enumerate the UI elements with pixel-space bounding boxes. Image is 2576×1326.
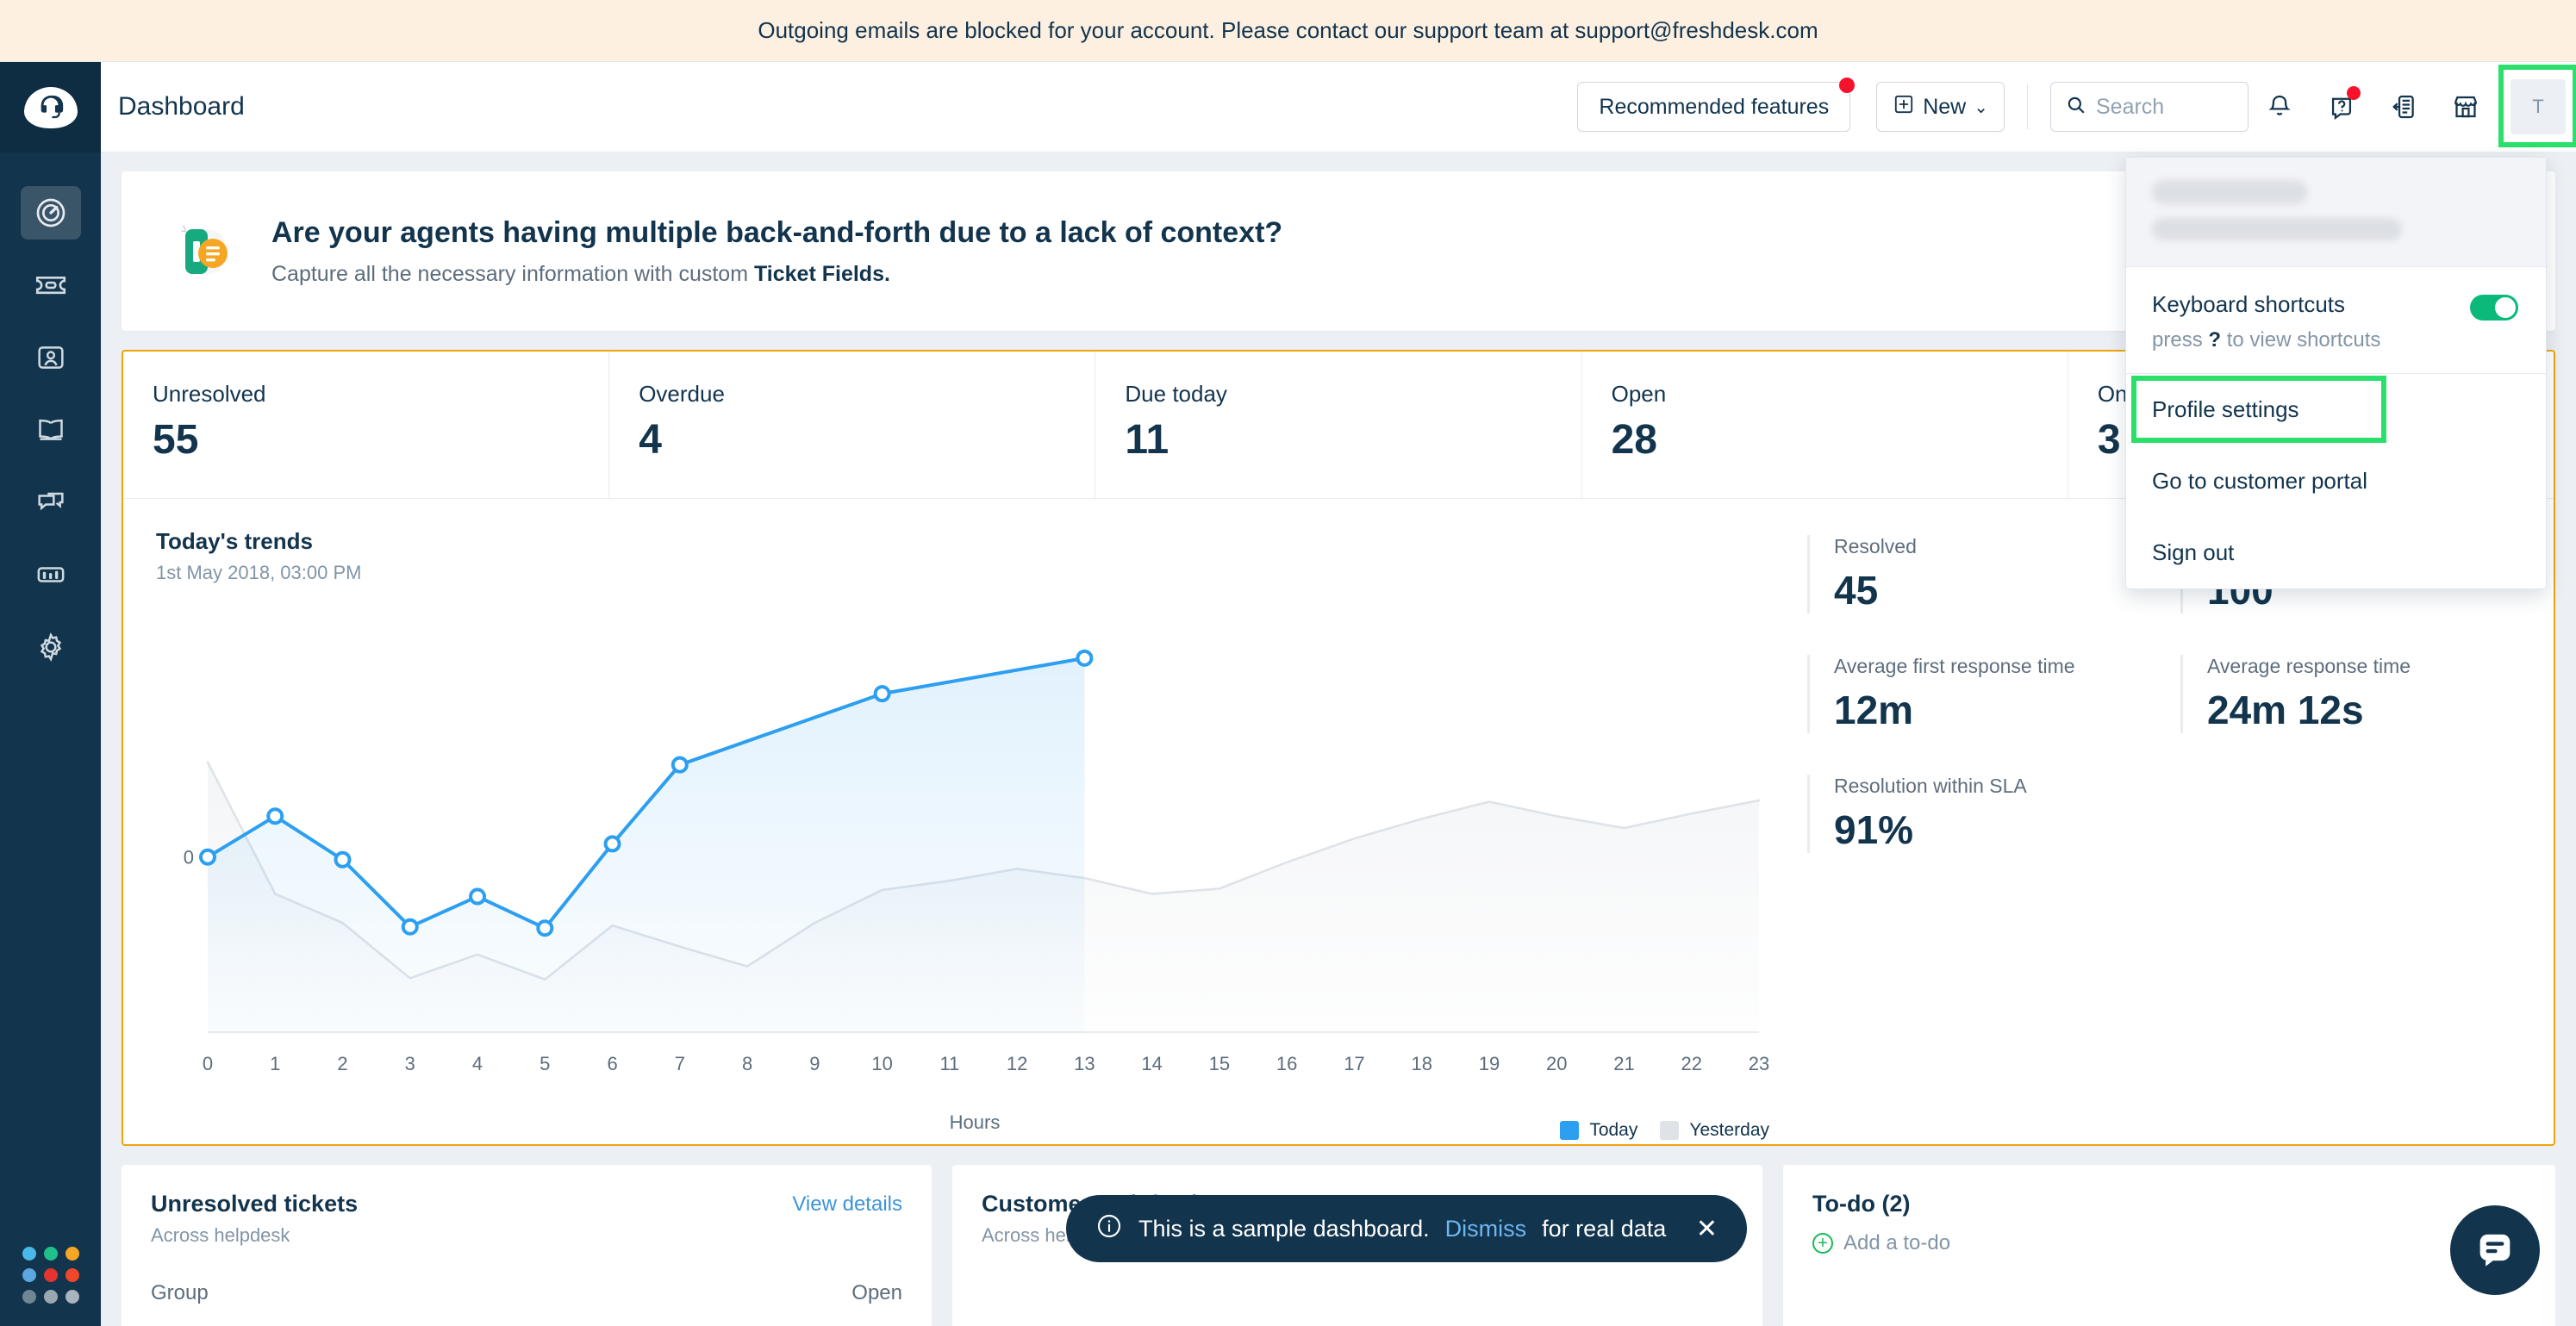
app-switcher[interactable] (0, 1247, 101, 1304)
svg-text:23: 23 (1749, 1053, 1769, 1074)
plus-square-icon (1893, 93, 1915, 121)
view-details-link[interactable]: View details (792, 1192, 902, 1217)
trends-chart-section: Today's trends 1st May 2018, 03:00 PM 00… (123, 499, 1778, 1144)
svg-text:16: 16 (1276, 1053, 1297, 1074)
ticket-fields-illustration-icon (163, 212, 242, 291)
promo-sub-bold: Ticket Fields. (754, 262, 890, 286)
sidebar-logo[interactable] (0, 62, 101, 153)
recommended-features-label: Recommended features (1599, 95, 1829, 120)
profile-avatar-wrapper: T (2511, 79, 2566, 134)
reports-bar-icon (21, 548, 81, 601)
profile-name-redacted (2152, 180, 2307, 204)
search-input[interactable]: Search (2050, 82, 2249, 132)
kpi-label: Overdue (639, 381, 1095, 408)
svg-text:14: 14 (1141, 1053, 1162, 1074)
svg-text:22: 22 (1681, 1053, 1701, 1074)
header-actions: Recommended features New ⌄ (1577, 62, 2576, 152)
help-icon[interactable] (2311, 76, 2373, 138)
menu-item-customer-portal[interactable]: Go to customer portal (2126, 445, 2546, 517)
svg-text:6: 6 (607, 1053, 617, 1074)
hint-suffix: to view shortcuts (2221, 328, 2380, 352)
app-dot-5 (44, 1268, 58, 1282)
legend-swatch-yesterday (1660, 1121, 1679, 1140)
todo-card: To-do (2) + Add a to-do (1783, 1165, 2555, 1326)
hint-prefix: press (2152, 328, 2208, 352)
add-todo-button[interactable]: + Add a to-do (1812, 1231, 2526, 1255)
svg-text:1: 1 (270, 1053, 280, 1074)
hint-key: ? (2208, 328, 2221, 352)
trends-chart-svg: 001234567891011121314151617181920212223 (156, 593, 1793, 1110)
keyboard-shortcuts-label: Keyboard shortcuts (2152, 291, 2520, 318)
trends-body: Today's trends 1st May 2018, 03:00 PM 00… (123, 499, 2554, 1144)
whats-new-icon[interactable] (2373, 76, 2435, 138)
svg-text:13: 13 (1074, 1053, 1095, 1074)
top-header: Dashboard Recommended features New ⌄ (101, 62, 2576, 153)
column-header-group: Group (151, 1281, 209, 1305)
sample-dashboard-toast: This is a sample dashboard. Dismiss for … (1066, 1195, 1747, 1262)
svg-text:9: 9 (809, 1053, 820, 1074)
menu-item-sign-out[interactable]: Sign out (2126, 517, 2546, 588)
svg-text:3: 3 (405, 1053, 415, 1074)
metric-avg-response: Average response time 24m 12s (2180, 655, 2554, 733)
card-subtitle: Across helpdesk (151, 1224, 902, 1247)
keyboard-shortcuts-hint: press ? to view shortcuts (2152, 328, 2520, 352)
kpi-open[interactable]: Open 28 (1582, 352, 2068, 498)
app-dot-8 (44, 1290, 58, 1304)
trends-chart: 001234567891011121314151617181920212223 … (156, 593, 1793, 1144)
new-button[interactable]: New ⌄ (1876, 82, 2005, 132)
metric-avg-first-response: Average first response time 12m (1807, 655, 2180, 733)
profile-dropdown: Keyboard shortcuts press ? to view short… (2125, 157, 2547, 589)
svg-text:0: 0 (203, 1053, 213, 1074)
app-dot-7 (22, 1290, 36, 1304)
metric-value: 91% (1834, 806, 2180, 853)
svg-text:4: 4 (472, 1053, 483, 1074)
sidebar-item-tickets[interactable] (0, 249, 101, 321)
svg-text:5: 5 (540, 1053, 550, 1074)
kpi-label: Due today (1125, 381, 1581, 408)
kpi-value: 55 (153, 416, 608, 464)
app-dot-2 (44, 1247, 58, 1261)
svg-text:17: 17 (1344, 1053, 1364, 1074)
app-switcher-dots (22, 1247, 79, 1304)
svg-text:12: 12 (1007, 1053, 1027, 1074)
svg-text:2: 2 (337, 1053, 347, 1074)
kpi-value: 4 (639, 416, 1095, 464)
app-dot-3 (65, 1247, 79, 1261)
metric-label: Average response time (2207, 655, 2554, 678)
svg-text:19: 19 (1479, 1053, 1500, 1074)
sidebar-item-solutions[interactable] (0, 394, 101, 466)
profile-email-redacted (2152, 218, 2402, 240)
promo-heading: Are your agents having multiple back-and… (271, 216, 1282, 250)
outgoing-email-banner: Outgoing emails are blocked for your acc… (0, 0, 2576, 62)
chat-widget-button[interactable] (2450, 1205, 2540, 1295)
svg-text:18: 18 (1411, 1053, 1431, 1074)
dashboard-gauge-icon (21, 186, 81, 240)
kpi-label: Open (1612, 381, 2068, 408)
sidebar-item-admin[interactable] (0, 611, 101, 683)
promo-text: Are your agents having multiple back-and… (271, 216, 1282, 287)
kpi-due-today[interactable]: Due today 11 (1095, 352, 1581, 498)
sidebar-item-reports[interactable] (0, 538, 101, 611)
kpi-label: Unresolved (153, 381, 608, 408)
menu-item-profile-settings[interactable]: Profile settings (2126, 374, 2546, 445)
trends-subtitle: 1st May 2018, 03:00 PM (156, 562, 1778, 584)
metric-value: 24m 12s (2207, 687, 2554, 733)
chat-icon (2473, 1226, 2517, 1275)
help-notification-dot-icon (2347, 86, 2361, 100)
close-icon[interactable]: ✕ (1696, 1214, 1718, 1244)
marketplace-icon[interactable] (2435, 76, 2497, 138)
outgoing-email-banner-text: Outgoing emails are blocked for your acc… (758, 17, 1818, 44)
chart-legend: Today Yesterday (1560, 1120, 1769, 1141)
info-icon (1095, 1212, 1123, 1246)
book-icon (21, 403, 81, 457)
svg-text:11: 11 (939, 1053, 959, 1074)
chevron-down-icon: ⌄ (1974, 96, 1988, 118)
toast-suffix: for real data (1542, 1216, 1666, 1242)
kpi-value: 28 (1612, 416, 2068, 464)
promo-sub-prefix: Capture all the necessary information wi… (271, 262, 754, 286)
contacts-icon (21, 331, 81, 384)
search-placeholder: Search (2096, 95, 2164, 120)
metric-resolution-sla: Resolution within SLA 91% (1807, 775, 2180, 853)
add-todo-label: Add a to-do (1843, 1231, 1950, 1255)
avatar[interactable]: T (2511, 79, 2566, 134)
card-column-headers: Group Open (151, 1281, 902, 1305)
search-icon (2065, 94, 2087, 121)
app-dot-6 (65, 1268, 79, 1282)
kpi-value: 11 (1125, 416, 1581, 464)
metric-label: Average first response time (1834, 655, 2180, 678)
promo-subtext: Capture all the necessary information wi… (271, 262, 1282, 287)
freshdesk-headset-logo-icon (24, 87, 78, 128)
legend-label-today: Today (1589, 1120, 1637, 1141)
trends-metrics: Resolved 45 Received 100 Average first r… (1778, 499, 2554, 1144)
recommended-features-button[interactable]: Recommended features (1577, 82, 1850, 132)
keyboard-shortcuts-row: Keyboard shortcuts press ? to view short… (2126, 267, 2546, 373)
sidebar-item-social[interactable] (0, 466, 101, 538)
trends-title: Today's trends (156, 528, 1778, 555)
notifications-bell-icon[interactable] (2249, 76, 2311, 138)
sidebar-nav (0, 153, 101, 683)
plus-circle-icon: + (1812, 1233, 1833, 1254)
keyboard-shortcuts-toggle[interactable] (2470, 295, 2518, 321)
app-dot-4 (22, 1268, 36, 1282)
svg-text:8: 8 (742, 1053, 752, 1074)
header-divider (2027, 84, 2028, 129)
svg-text:0: 0 (184, 847, 194, 868)
sidebar-item-contacts[interactable] (0, 321, 101, 394)
left-sidebar (0, 62, 101, 1326)
metric-label: Resolution within SLA (1834, 775, 2180, 798)
chat-bubbles-icon (21, 476, 81, 529)
app-dot-9 (65, 1290, 79, 1304)
app-dot-1 (22, 1247, 36, 1261)
kpi-unresolved[interactable]: Unresolved 55 (123, 352, 609, 498)
dropdown-profile-header (2126, 158, 2546, 266)
svg-text:21: 21 (1613, 1053, 1634, 1074)
toast-dismiss-link[interactable]: Dismiss (1445, 1216, 1527, 1242)
toggle-knob (2495, 297, 2516, 318)
gear-icon (21, 620, 81, 674)
metric-value: 12m (1834, 687, 2180, 733)
svg-text:10: 10 (871, 1053, 892, 1074)
legend-label-yesterday: Yesterday (1689, 1120, 1769, 1141)
chart-xaxis-label: Hours (156, 1111, 1793, 1134)
card-title: To-do (2) (1812, 1191, 2526, 1217)
new-button-label: New (1923, 95, 1966, 120)
card-title: Unresolved tickets (151, 1191, 902, 1217)
svg-text:15: 15 (1209, 1053, 1230, 1074)
unresolved-tickets-card: Unresolved tickets Across helpdesk View … (122, 1165, 932, 1326)
svg-text:20: 20 (1546, 1053, 1567, 1074)
page-title: Dashboard (118, 92, 245, 121)
svg-text:7: 7 (675, 1053, 685, 1074)
column-header-open: Open (851, 1281, 902, 1305)
ticket-icon (21, 258, 81, 312)
toast-message: This is a sample dashboard. (1138, 1216, 1430, 1242)
sidebar-item-dashboard[interactable] (0, 177, 101, 249)
kpi-overdue[interactable]: Overdue 4 (609, 352, 1095, 498)
notification-dot-icon (1839, 78, 1855, 93)
legend-swatch-today (1560, 1121, 1579, 1140)
